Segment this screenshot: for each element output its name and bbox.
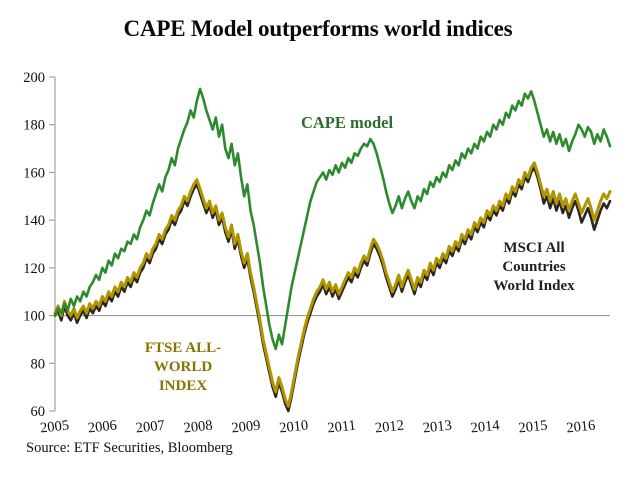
annotation-msci-line2: Countries	[502, 259, 565, 275]
chart-figure: CAPE Model outperforms world indices 608…	[0, 0, 636, 487]
annotation-ftse-line2: WORLD	[154, 359, 213, 375]
source-note: Source: ETF Securities, Bloomberg	[26, 440, 233, 457]
annotation-ftse-line3: INDEX	[159, 378, 208, 394]
annotation-msci-line1: MSCI All	[503, 240, 564, 256]
annotation-msci-line3: World Index	[493, 278, 575, 294]
annotation-layer: CAPE model FTSE ALL- WORLD INDEX MSCI Al…	[0, 0, 636, 487]
annotation-ftse-line1: FTSE ALL-	[145, 340, 221, 356]
annotation-cape-model: CAPE model	[301, 113, 394, 132]
